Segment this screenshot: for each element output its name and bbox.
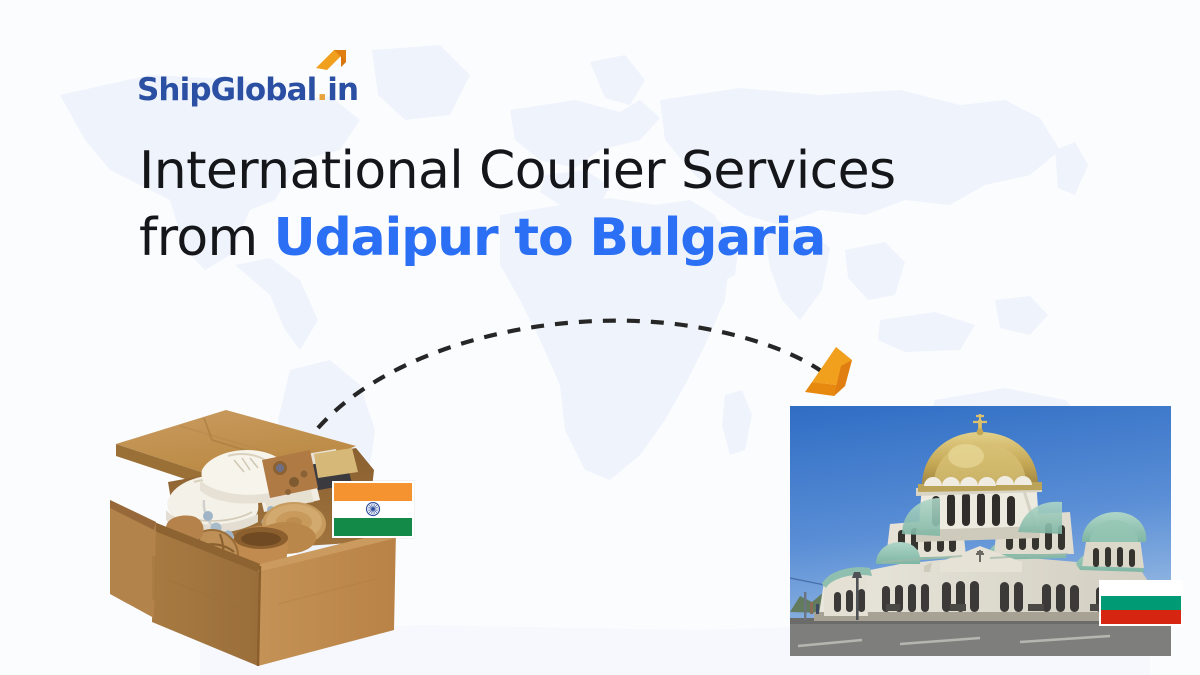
india-flag-green-band [334, 518, 412, 536]
ashoka-chakra-icon [366, 502, 381, 517]
brand-logo[interactable]: ShipGlobal.in [137, 58, 358, 106]
bulgaria-flag-green-band [1101, 596, 1181, 610]
india-flag-icon [332, 481, 414, 538]
page-title-prefix: from [139, 208, 274, 268]
india-flag-white-band [334, 501, 412, 519]
bulgaria-flag-icon [1099, 580, 1183, 626]
banner-canvas: ShipGlobal.in International Courier Serv… [0, 0, 1200, 675]
bulgaria-flag-white-band [1101, 582, 1181, 596]
route-arrowhead-icon [805, 347, 852, 396]
page-title-route: Udaipur to Bulgaria [274, 208, 826, 268]
page-title-line-1: International Courier Services [139, 138, 1019, 205]
india-flag-saffron-band [334, 483, 412, 501]
bulgaria-flag-red-band [1101, 610, 1181, 624]
page-title-line-2: from Udaipur to Bulgaria [139, 205, 1019, 272]
page-title: International Courier Services from Udai… [139, 138, 1019, 271]
brand-logo-arrow-icon [310, 46, 350, 88]
